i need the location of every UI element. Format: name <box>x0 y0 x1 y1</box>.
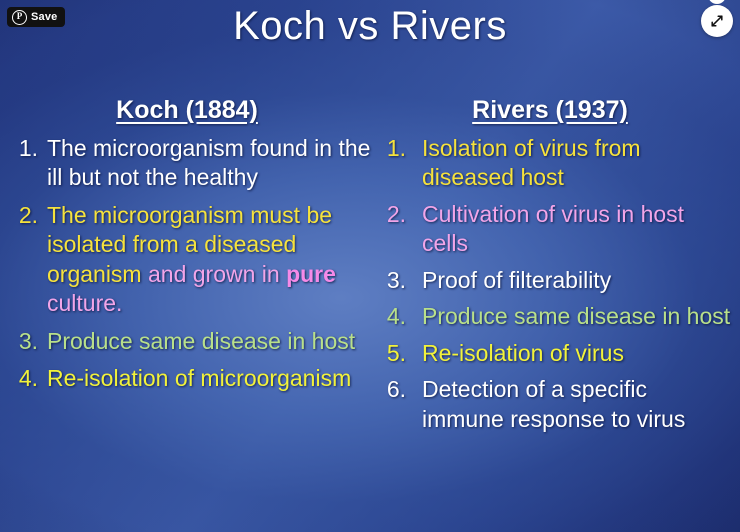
list-item-text: Isolation of virus from diseased host <box>422 134 734 193</box>
list-item: 3. Produce same disease in host <box>14 327 374 356</box>
list-item-number: 2. <box>14 201 38 230</box>
list-item-text: Re-isolation of virus <box>422 339 734 368</box>
expand-arrows-icon <box>709 13 725 29</box>
list-item-text: Proof of filterability <box>422 266 734 295</box>
list-item-number: 4. <box>382 302 406 331</box>
column-heading-koch: Koch (1884) <box>14 96 374 125</box>
list-item-run: culture. <box>47 290 122 316</box>
slide-title: Koch vs Rivers <box>0 4 740 49</box>
list-item-text: Cultivation of virus in host cells <box>422 200 734 259</box>
list-item: 1. The microorganism found in the ill bu… <box>14 134 374 193</box>
expand-button[interactable] <box>701 5 733 37</box>
list-item: 3. Proof of filterability <box>382 266 734 295</box>
list-item: 6. Detection of a specific immune respon… <box>382 375 734 434</box>
list-item-number: 4. <box>14 364 38 393</box>
list-item-number: 3. <box>14 327 38 356</box>
list-item-number: 1. <box>382 134 406 163</box>
list-item-number: 6. <box>382 375 406 404</box>
list-item: 5. Re-isolation of virus <box>382 339 734 368</box>
list-item-text: Produce same disease in host <box>47 327 374 356</box>
koch-postulates-list: 1. The microorganism found in the ill bu… <box>14 134 374 394</box>
column-koch: Koch (1884) 1. The microorganism found i… <box>0 96 380 441</box>
list-item: 2. Cultivation of virus in host cells <box>382 200 734 259</box>
list-item: 4. Re-isolation of microorganism <box>14 364 374 393</box>
list-item-run: pure <box>286 261 336 287</box>
list-item-text: Produce same disease in host <box>422 302 734 331</box>
list-item-text: The microorganism found in the ill but n… <box>47 134 374 193</box>
slide-body: Koch (1884) 1. The microorganism found i… <box>0 96 740 441</box>
pinterest-save-button[interactable]: P Save <box>7 7 65 27</box>
list-item: 2. The microorganism must be isolated fr… <box>14 201 374 319</box>
pinterest-save-label: Save <box>31 11 58 23</box>
rivers-postulates-list: 1. Isolation of virus from diseased host… <box>382 134 734 434</box>
list-item-text: Detection of a specific immune response … <box>422 375 734 434</box>
column-heading-rivers: Rivers (1937) <box>382 96 734 125</box>
list-item-number: 3. <box>382 266 406 295</box>
list-item: 1. Isolation of virus from diseased host <box>382 134 734 193</box>
list-item-text: The microorganism must be isolated from … <box>47 201 374 319</box>
list-item-run: and grown in <box>148 261 286 287</box>
column-rivers: Rivers (1937) 1. Isolation of virus from… <box>380 96 740 441</box>
pinterest-icon: P <box>12 10 27 25</box>
list-item-text: Re-isolation of microorganism <box>47 364 374 393</box>
list-item-number: 5. <box>382 339 406 368</box>
presentation-slide: P Save Koch vs Rivers Koch (1884) 1. The… <box>0 0 740 532</box>
list-item: 4. Produce same disease in host <box>382 302 734 331</box>
list-item-number: 2. <box>382 200 406 229</box>
list-item-number: 1. <box>14 134 38 163</box>
